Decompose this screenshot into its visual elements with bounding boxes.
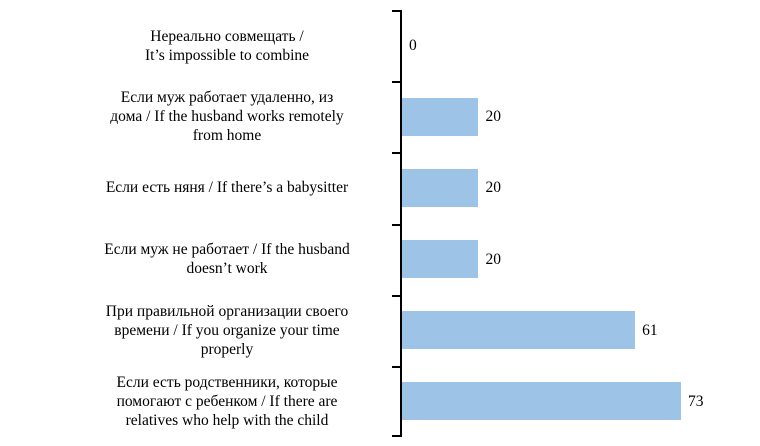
category-label-line: from home [62,126,392,145]
bar-value-label: 20 [485,250,501,269]
category-axis-tick [392,224,401,226]
bar-and-value: 0 [402,27,417,65]
category-label-line: doesn’t work [62,259,392,278]
bar [402,98,478,136]
horizontal-bar-chart: Нереально совмещать /It’s impossible to … [0,0,760,446]
bar-and-value: 20 [402,240,501,278]
category-label-line: Если есть родственники, которые [62,373,392,392]
bar-row: Если есть няня / If there’s a babysitter… [0,152,760,223]
bar-value-label: 20 [485,178,501,197]
category-label-line: Если муж работает удаленно, из [62,88,392,107]
category-label-line: Нереально совмещать / [62,27,392,46]
category-label: Если есть няня / If there’s a babysitter [62,178,392,197]
category-label-line: дома / If the husband works remotely [62,107,392,126]
bar [402,382,681,420]
bar-rows-container: Нереально совмещать /It’s impossible to … [0,10,760,437]
category-label: Нереально совмещать /It’s impossible to … [62,27,392,65]
category-label: Если муж не работает / If the husbanddoe… [62,240,392,278]
bar-and-value: 20 [402,98,501,136]
bar-value-label: 61 [642,321,658,340]
category-label: Если муж работает удаленно, издома / If … [62,88,392,145]
category-axis-tick [392,295,401,297]
bar-row: Если есть родственники, которыепомогают … [0,366,760,437]
category-label-line: Если есть няня / If there’s a babysitter [62,178,392,197]
bar-row: Если муж не работает / If the husbanddoe… [0,224,760,295]
bar-and-value: 20 [402,169,501,207]
bar-row: Если муж работает удаленно, издома / If … [0,81,760,152]
bar-row: При правильной организации своеговремени… [0,295,760,366]
category-label-line: relatives who help with the child [62,411,392,430]
bar [402,240,478,278]
bar-value-label: 73 [688,392,704,411]
bar-and-value: 61 [402,311,658,349]
category-label-line: Если муж не работает / If the husband [62,240,392,259]
category-axis-tick [392,81,401,83]
category-label-line: It’s impossible to combine [62,46,392,65]
bar-value-label: 20 [485,107,501,126]
category-label: Если есть родственники, которыепомогают … [62,373,392,430]
category-label-line: properly [62,340,392,359]
category-label: При правильной организации своеговремени… [62,302,392,359]
bar-and-value: 73 [402,382,704,420]
bar-value-label: 0 [409,36,417,55]
category-label-line: помогают с ребенком / If there are [62,392,392,411]
bar-row: Нереально совмещать /It’s impossible to … [0,10,760,81]
category-label-line: При правильной организации своего [62,302,392,321]
category-axis-tick [392,366,401,368]
category-label-line: времени / If you organize your time [62,321,392,340]
bar [402,311,635,349]
category-axis-tick [392,152,401,154]
bar [402,169,478,207]
